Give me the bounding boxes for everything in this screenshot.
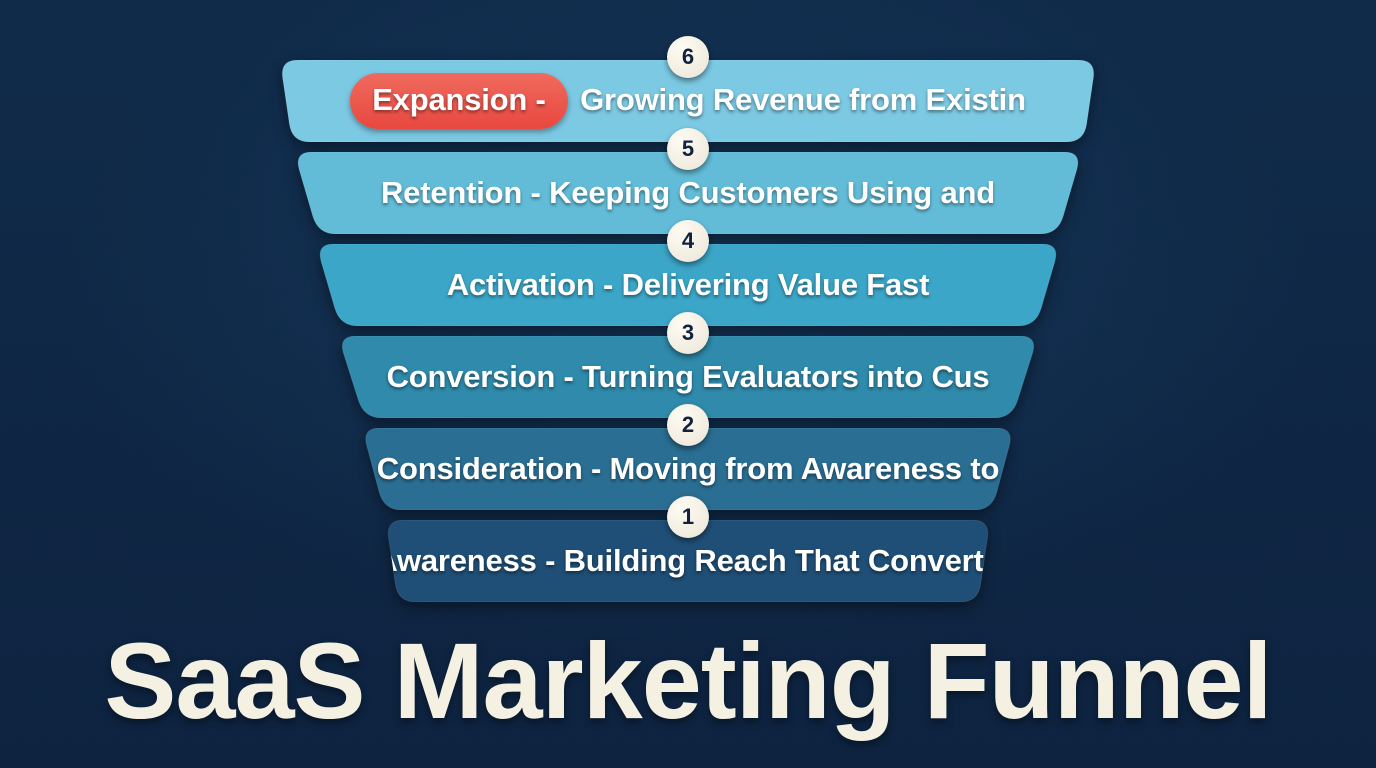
funnel-stage-number-badge: 2 (667, 404, 709, 446)
funnel-stage-number-badge: 4 (667, 220, 709, 262)
funnel-stage-number-badge: 6 (667, 36, 709, 78)
funnel-stage-number-badge: 5 (667, 128, 709, 170)
funnel-chart: Expansion - Growing Revenue from Existin… (0, 0, 1376, 620)
funnel-infographic: Expansion - Growing Revenue from Existin… (0, 0, 1376, 768)
page-title: SaaS Marketing Funnel (0, 618, 1376, 743)
funnel-stage-number-badge: 1 (667, 496, 709, 538)
funnel-stage-number-badge: 3 (667, 312, 709, 354)
